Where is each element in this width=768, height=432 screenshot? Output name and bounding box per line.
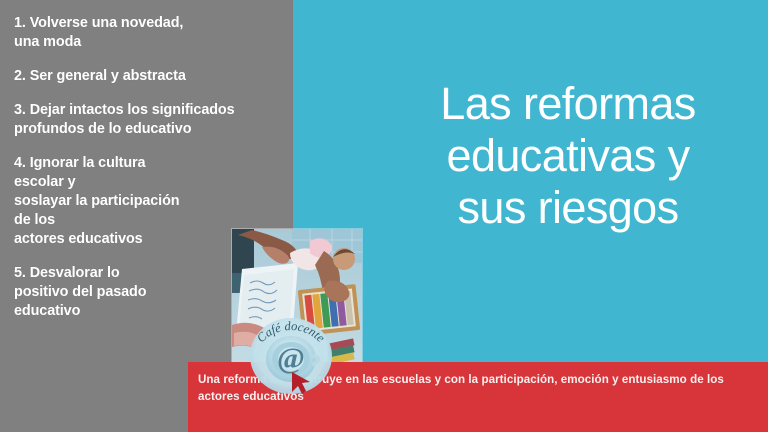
list-item: 1. Volverse una novedad, una moda <box>14 14 294 52</box>
coffee-cup-icon: @ Café docente <box>248 312 334 398</box>
page-title-line: sus riesgos <box>372 182 764 234</box>
page-title-line: educativas y <box>372 130 764 182</box>
at-symbol-glyph: @ <box>277 342 305 375</box>
list-item: 3. Dejar intactos los significados profu… <box>14 101 294 139</box>
page-title-line: Las reformas <box>372 78 764 130</box>
list-item: 2. Ser general y abstracta <box>14 67 294 86</box>
page-title: Las reformas educativas y sus riesgos <box>372 78 764 235</box>
slide-canvas: 1. Volverse una novedad, una moda 2. Ser… <box>0 0 768 432</box>
cafe-docente-logo: @ Café docente <box>248 312 334 398</box>
